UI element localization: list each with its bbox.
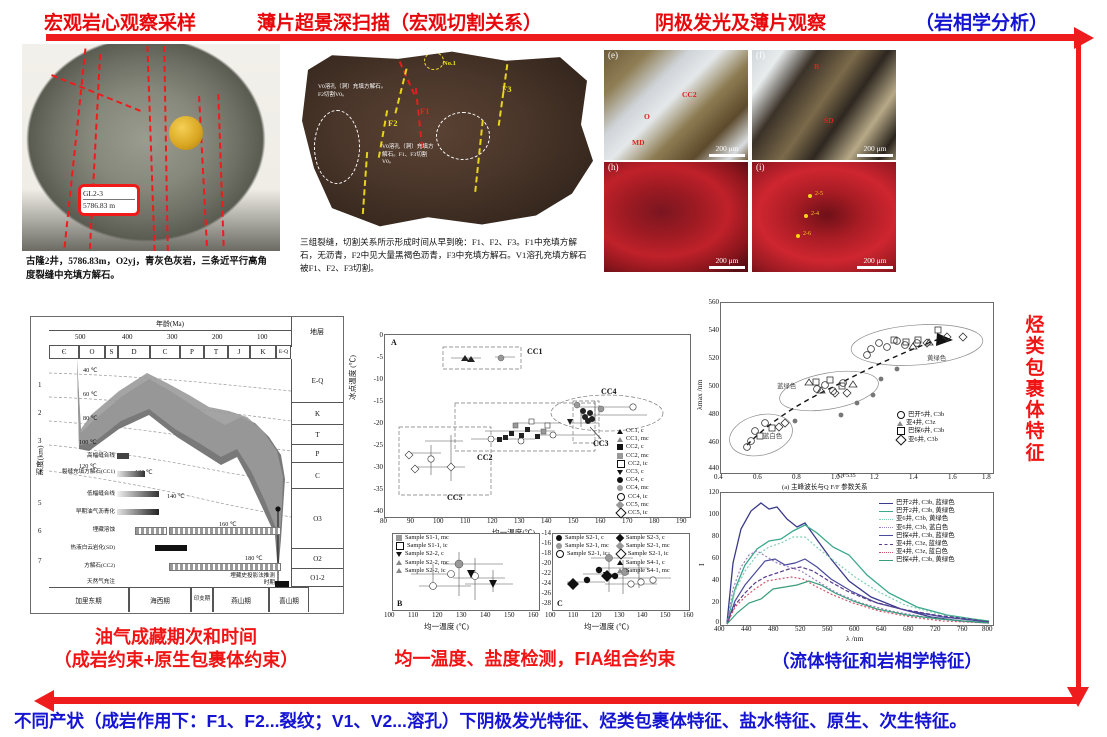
core-photo-caption: 古隆2井，5786.83m，O2yj，青灰色灰岩，三条近平行高角度裂缝中充填方解…: [26, 256, 276, 283]
x-tick: 150: [568, 517, 579, 525]
group-label-cc3: CC3: [593, 439, 609, 448]
event-label: 早期油气沥青化: [49, 509, 115, 516]
strata-cell: E-Q: [276, 345, 291, 359]
thin-section-caption: 三组裂缝，切割关系所示形成时间从早到晚：F1、F2、F3。F1中充填方解石，无沥…: [300, 236, 590, 275]
fluorescence-subtitle: (a) 主峰波长与Q F/F 参数关系: [782, 481, 868, 491]
burial-caption-line2: （成岩约束+原生包裹体约束）: [26, 649, 326, 672]
y-tick: 40: [712, 576, 719, 584]
y-tick: 100: [709, 510, 720, 518]
event-bar: [117, 471, 145, 477]
age-tick-400: 400: [122, 333, 133, 341]
y-tick: -16: [542, 539, 551, 547]
y-tick: -28: [542, 599, 551, 607]
x-tick: 130: [514, 517, 525, 525]
y-tick: 460: [709, 438, 720, 446]
top-arrow-bar: [46, 34, 1076, 41]
legend-label: CC5, mc: [626, 501, 649, 509]
thin-section-note-center: V0溶孔（洞）充填方解石。F1、F3切割V0。: [382, 144, 438, 167]
fia-spot-label-2-5: 2-5: [815, 191, 823, 197]
strata-right-cell: O2: [292, 549, 343, 569]
panel-a-y-ticks: 0 -5 -10 -15 -20 -25 -30 -35 -40: [364, 334, 384, 516]
scale-bar-i-text: 200 μm: [864, 256, 887, 265]
scale-bar-e: 200 μm: [709, 144, 745, 157]
x-tick: 180: [649, 517, 660, 525]
y-tick: -15: [374, 397, 383, 405]
x-tick: 90: [407, 517, 414, 525]
side-caption-char: 烃: [1022, 315, 1048, 336]
legend-label: Sample S1-1, ic: [407, 542, 448, 550]
bottom-summary-text: 不同产状（成岩作用下：F1、F2...裂纹；V1、V2...溶孔）下阴极发光特征…: [14, 708, 967, 733]
mineral-label-b: B: [814, 62, 819, 71]
symbol-triangle-open-icon: [897, 421, 903, 426]
strata-cell: Є: [49, 345, 79, 359]
x-tick: 120: [432, 611, 443, 619]
panel-label-h: (h): [606, 162, 621, 172]
legend-item: Sample S2-1, ic: [556, 550, 609, 558]
strata-cell: P: [180, 345, 204, 359]
micrograph-panel-i: (i) 2-5 2-4 2-6 200 μm: [752, 162, 896, 272]
depth-tick-7: 7: [38, 557, 42, 565]
legend-label: 巴探4井, C3b, 黄绿色: [896, 556, 955, 564]
x-tick: 640: [876, 625, 887, 633]
x-tick: 170: [622, 517, 633, 525]
x-tick: 160: [683, 611, 694, 619]
legend-item: Sample S2-3, c: [617, 534, 670, 542]
y-tick: -26: [542, 589, 551, 597]
y-tick: -22: [542, 569, 551, 577]
panel-label-i: (i): [754, 162, 767, 172]
x-tick: 140: [480, 611, 491, 619]
x-tick: 560: [822, 625, 833, 633]
legend-item: CC2, c: [617, 443, 649, 451]
x-tick: 0.6: [753, 473, 762, 481]
x-tick: 480: [768, 625, 779, 633]
micrograph-panel-h: (h) 200 μm: [604, 162, 748, 272]
symbol-square-open-icon: [396, 542, 404, 550]
burial-history-chart: 年龄(Ma) 地层 500 400 300 200 100 Є O S D C …: [30, 316, 344, 614]
strata-right-cell: O1-2: [292, 569, 343, 587]
strata-cell: S: [105, 345, 118, 359]
legend-item: 巴探4井, C3b, 黄绿色: [879, 556, 955, 564]
strata-right-cell: C: [292, 463, 343, 489]
side-caption-hydrocarbon-inclusions: 烃 类 包 裹 体 特 征: [1022, 315, 1048, 464]
age-tick-500: 500: [75, 333, 86, 341]
core-tag-id: GL2-3: [83, 188, 135, 200]
panel-c-y-ticks: -14 -16 -18 -20 -22 -24 -26 -28: [534, 533, 552, 609]
legend-item: Sample S4-1, mc: [617, 567, 670, 575]
event-projection-note: 埋藏史投影法推测时期: [225, 573, 275, 586]
x-tick: 100: [384, 611, 395, 619]
x-tick: 140: [637, 611, 648, 619]
y-tick: -18: [542, 549, 551, 557]
line-swatch: [879, 503, 893, 504]
line-swatch: [879, 535, 893, 536]
y-tick: 500: [709, 382, 720, 390]
legend-label: Sample S2-1, c: [565, 534, 604, 542]
scale-bar-f-text: 200 μm: [864, 144, 887, 153]
x-tick: 1.6: [948, 473, 957, 481]
panel-a-ylabel: 冰点温度 (℃): [347, 355, 358, 400]
header-item-thin-section-scan: 薄片超景深扫描（宏观切割关系）: [257, 8, 542, 35]
legend-label: Sample S2-1, mc: [626, 542, 670, 550]
y-tick: 480: [709, 410, 720, 418]
scale-bar-f: 200 μm: [857, 144, 893, 157]
symbol-square-gray-icon: [617, 453, 623, 459]
legend-label: CC4, ic: [628, 493, 648, 501]
header-item-petrography: （岩相学分析）: [915, 8, 1048, 35]
age-tick-200: 200: [212, 333, 223, 341]
panel-a-legend: CC1, c CC1, mc CC2, c CC2, mc CC2, ic CC…: [617, 427, 649, 517]
micrograph-panel-f: (f) B SD 200 μm: [752, 50, 896, 160]
legend-label: CC4, c: [626, 476, 644, 484]
legend-label: 巴开2井, C3b, 蓝绿色: [896, 499, 955, 507]
spectra-ylabel: I: [697, 563, 706, 566]
zone-label-blue-green: 蓝绿色: [777, 381, 796, 390]
legend-item: Sample S2-2, c: [396, 550, 449, 558]
dissolution-pore-outline-left: [314, 110, 360, 184]
legend-label: 巴探4井, C3b, 蓝绿色: [896, 532, 955, 540]
spectra-legend: 巴开2井, C3b, 蓝绿色 巴开2井, C3b, 黄绿色 亚6井, C3b, …: [879, 499, 955, 565]
y-tick: -30: [374, 463, 383, 471]
y-tick: 60: [712, 554, 719, 562]
symbol-triangle-icon: [617, 560, 623, 565]
symbol-circle-icon: [617, 477, 623, 483]
burial-ylabel: 深度(km): [34, 446, 45, 476]
fracture-f2: [394, 68, 407, 113]
y-tick: -24: [542, 579, 551, 587]
legend-label: CC3, c: [626, 468, 644, 476]
legend-label: CC1, c: [626, 427, 644, 435]
zone-label-yellow-green: 黄绿色: [927, 353, 946, 362]
fracture-label-f3: F3: [502, 84, 511, 94]
y-tick: 120: [709, 488, 720, 496]
scale-bar-i: 200 μm: [857, 256, 893, 269]
header-item-cl-observation: 阴极发光及薄片观察: [655, 8, 826, 35]
fia-spot-label-2-4: 2-4: [811, 211, 819, 217]
spectra-chart: 巴开2井, C3b, 蓝绿色 巴开2井, C3b, 黄绿色 亚6井, C3b, …: [720, 492, 994, 626]
side-caption-char: 类: [1022, 336, 1048, 357]
spectra-y-ticks: 120 100 80 60 40 20 0: [700, 492, 720, 624]
x-tick: 760: [957, 625, 968, 633]
mineral-label-md: MD: [632, 138, 645, 147]
x-tick: 110: [408, 611, 418, 619]
event-bar: [117, 509, 159, 515]
x-tick: 800: [982, 625, 993, 633]
event-label: 高幅缝合线: [51, 453, 115, 460]
y-tick: 0: [380, 331, 384, 339]
y-tick: -40: [374, 507, 383, 515]
side-caption-char: 体: [1022, 400, 1048, 421]
x-tick: 400: [714, 625, 725, 633]
legend-label: 亚6井, C3b, 蓝白色: [896, 524, 948, 532]
tectonic-stage: 海西期: [129, 587, 191, 612]
symbol-circle-open-icon: [897, 411, 905, 419]
tectonic-stage: 加里东期: [49, 587, 129, 612]
legend-item: Sample S2-2, mc: [396, 559, 449, 567]
legend-label: CC2, c: [626, 443, 644, 451]
event-label: 方解石(CC2): [59, 563, 115, 570]
y-tick: 20: [712, 598, 719, 606]
legend-item: Sample S2-1, mc: [617, 542, 670, 550]
legend-item: CC4, mc: [617, 484, 649, 492]
fluorescence-ylabel: λmax /nm: [695, 380, 704, 410]
symbol-triangle-down-icon: [617, 470, 623, 475]
legend-label: Sample S4-1, mc: [626, 567, 670, 575]
y-tick: 440: [709, 464, 720, 472]
isotherm-180: 180 ℃: [245, 555, 263, 562]
fluorescence-xlabel: QF535: [838, 472, 856, 479]
symbol-triangle-gray-icon: [617, 437, 623, 442]
y-tick: 560: [709, 298, 720, 306]
event-bar: [117, 491, 159, 497]
y-tick: -20: [542, 559, 551, 567]
x-tick: 140: [541, 517, 552, 525]
group-label-cc2: CC2: [477, 453, 493, 462]
legend-item: CC1, c: [617, 427, 649, 435]
fluorescence-legend: 巴开5井, C3b 亚4井, C3z 巴探6井, C3b 亚6井, C3b: [897, 411, 944, 444]
event-label: 热液白云岩化(SD): [49, 545, 115, 552]
legend-item: CC3, c: [617, 468, 649, 476]
event-bar: [169, 563, 281, 571]
depth-tick-1: 1: [38, 381, 42, 389]
legend-item: 亚6井, C3b, 蓝白色: [879, 524, 955, 532]
legend-item: 巴开5井, C3b: [897, 411, 944, 419]
line-swatch: [879, 560, 893, 561]
legend-label: Sample S2-3, c: [626, 534, 665, 542]
line-swatch: [879, 552, 893, 553]
y-tick: -35: [374, 485, 383, 493]
legend-item: 巴开2井, C3b, 蓝绿色: [879, 499, 955, 507]
y-tick: -5: [377, 353, 383, 361]
fracture-label-f1: F1: [420, 106, 429, 116]
mineral-label-cc2: CC2: [682, 90, 697, 99]
burial-plot-area: 40 ℃ 60 ℃ 80 ℃ 100 ℃ 120 ℃ 120 ℃ 140 ℃ 1…: [49, 359, 292, 588]
event-label: 埋藏溶蚀: [55, 527, 115, 534]
thin-section-scan-photo: V0溶孔（洞）充填方解石。F2切割V0。 V0溶孔（洞）充填方解石。F1、F3切…: [296, 48, 596, 230]
fracture-f1-b: [415, 88, 423, 148]
isotherm-100: 100 ℃: [79, 439, 97, 446]
symbol-circle-open-icon: [617, 493, 625, 501]
x-tick: 150: [504, 611, 515, 619]
y-tick: 80: [712, 532, 719, 540]
x-tick: 80: [380, 517, 387, 525]
x-tick: 100: [545, 611, 556, 619]
x-tick: 160: [528, 611, 539, 619]
burial-strata-header: 地层: [291, 317, 342, 347]
isotherm-40: 40 ℃: [83, 367, 98, 374]
panel-b-xlabel: 均一温度 (℃): [424, 621, 469, 632]
side-caption-char: 裹: [1022, 379, 1048, 400]
x-tick: 1.2: [870, 473, 879, 481]
legend-label: Sample S2-2, ic: [405, 567, 446, 575]
legend-label: CC5, ic: [628, 509, 648, 517]
event-label: 低幅缝合线: [51, 491, 115, 498]
fluid-petrography-caption: （流体特征和岩相学特征）: [772, 648, 982, 673]
symbol-triangle-gray-icon: [617, 568, 623, 573]
group-label-cc1: CC1: [527, 347, 543, 356]
x-tick: 110: [568, 611, 578, 619]
legend-item: Sample S4-1, c: [617, 559, 670, 567]
legend-label: 巴探6井, C3b: [908, 427, 944, 435]
symbol-diamond-open-icon: [895, 434, 906, 445]
legend-label: Sample S2-1, ic: [567, 550, 608, 558]
legend-label: 亚6井, C3b: [908, 436, 938, 444]
strata-cell: C: [150, 345, 180, 359]
zone-label-blue-white: 蓝白色: [763, 431, 782, 440]
age-tick-300: 300: [167, 333, 178, 341]
symbol-triangle-gray-icon: [396, 560, 402, 565]
event-bar: [117, 453, 129, 459]
legend-item: Sample S2-1, ic: [617, 550, 670, 558]
age-tick-100: 100: [257, 333, 268, 341]
burial-depth-axis: 1 2 3 4 5 6 7 深度(km): [31, 359, 49, 587]
y-tick: -25: [374, 441, 383, 449]
isotherm-140: 140 ℃: [167, 493, 185, 500]
side-caption-char: 特: [1022, 421, 1048, 442]
x-tick: 110: [460, 517, 470, 525]
fia-spot-2-5: [808, 194, 812, 198]
depth-tick-5: 5: [38, 499, 42, 507]
legend-item: CC2, mc: [617, 452, 649, 460]
fia-spot-2-6: [796, 234, 800, 238]
symbol-circle-gray-icon: [556, 543, 562, 549]
legend-item: CC4, c: [617, 476, 649, 484]
symbol-circle-gray-icon: [617, 485, 623, 491]
fia-spot-label-2-6: 2-6: [803, 231, 811, 237]
panel-c-legend: Sample S2-1, c Sample S2-1, mc Sample S2…: [556, 534, 670, 575]
symbol-circle-open-icon: [556, 550, 564, 558]
fracture-label-f2: F2: [388, 118, 397, 128]
scale-bar-h: 200 μm: [709, 256, 745, 269]
x-tick: 130: [456, 611, 467, 619]
panel-label-f: (f): [754, 50, 767, 60]
right-vertical-rule: [1076, 34, 1081, 700]
legend-item: Sample S1-1, ic: [396, 542, 449, 550]
legend-item: 巴探4井, C3b, 蓝绿色: [879, 532, 955, 540]
x-tick: 520: [795, 625, 806, 633]
legend-item: CC1, mc: [617, 435, 649, 443]
x-tick: 120: [591, 611, 602, 619]
mineral-label-sd: SD: [824, 116, 834, 125]
legend-item: CC4, ic: [617, 493, 649, 501]
group-label-cc4: CC4: [601, 387, 617, 396]
legend-item: 亚6井, C3b: [897, 436, 944, 444]
burial-right-strata-column: E-Q K T P C O3 O2 O1-2: [291, 359, 343, 587]
strata-cell: O: [79, 345, 105, 359]
event-bar: [169, 527, 281, 535]
sample-spot-no1: [424, 52, 444, 70]
core-tag-depth: 5786.83 m: [83, 200, 135, 211]
thin-section-note-left: V0溶孔（洞）充填方解石。F2切割V0。: [318, 84, 390, 99]
depth-tick-2: 2: [38, 409, 42, 417]
legend-label: Sample S2-2, mc: [405, 559, 449, 567]
strata-right-cell: K: [292, 403, 343, 425]
legend-label: Sample S2-1, mc: [565, 542, 609, 550]
symbol-triangle-down-icon: [396, 552, 402, 557]
panel-label-e: (e): [606, 50, 620, 60]
symbol-triangle-open-icon: [396, 568, 402, 573]
x-tick: 160: [595, 517, 606, 525]
legend-label: CC4, mc: [626, 484, 649, 492]
strata-right-cell: P: [292, 445, 343, 463]
strata-cell: J: [228, 345, 250, 359]
symbol-circle-icon: [556, 535, 562, 541]
legend-item: 亚6井, C3b, 黄绿色: [879, 515, 955, 523]
burial-age-axis-title: 年龄(Ma): [49, 317, 291, 331]
y-tick: -14: [542, 529, 551, 537]
x-tick: 1.8: [982, 473, 991, 481]
strata-right-cell: E-Q: [292, 359, 343, 403]
tectonic-stage: 印支期: [191, 587, 213, 612]
isotherm-80: 80 ℃: [83, 415, 98, 422]
side-caption-char: 征: [1022, 443, 1048, 464]
strata-cell: K: [250, 345, 276, 359]
panel-c-xlabel: 均一温度 (℃): [584, 621, 629, 632]
micrograph-panel-e: (e) CC2 O MD 200 μm: [604, 50, 748, 160]
legend-item: Sample S2-1, c: [556, 534, 609, 542]
x-tick: 440: [741, 625, 752, 633]
fracture-f2-c: [362, 152, 368, 214]
x-tick: 190: [676, 517, 687, 525]
legend-item: Sample S2-1, mc: [556, 542, 609, 550]
x-tick: 720: [930, 625, 941, 633]
line-swatch: [879, 527, 893, 528]
tectonic-stage: 喜山期: [269, 587, 309, 612]
fia-caption: 均一温度、盐度检测，FIA组合约束: [370, 648, 700, 671]
strata-cell: T: [204, 345, 228, 359]
x-tick: 130: [614, 611, 625, 619]
y-tick: -10: [374, 375, 383, 383]
depth-tick-3: 3: [38, 437, 42, 445]
x-tick: 120: [487, 517, 498, 525]
event-label: 天然气充注: [59, 579, 115, 586]
fluorescence-lambda-q-chart: 蓝白色 蓝绿色 黄绿色 巴开5井, C3b 亚4井, C3z 巴探6井, C3b…: [720, 302, 994, 474]
legend-label: Sample S2-1, ic: [628, 550, 669, 558]
event-label: 裂缝充填方解石(CC1): [49, 469, 115, 476]
strata-right-cell: O3: [292, 489, 343, 549]
tectonic-stage: 燕山期: [213, 587, 269, 612]
symbol-square-icon: [617, 444, 623, 450]
panel-a-chart: A: [384, 334, 691, 518]
side-caption-char: 包: [1022, 358, 1048, 379]
header-item-core-observation: 宏观岩心观察采样: [44, 8, 196, 35]
y-tick: 520: [709, 354, 720, 362]
strata-cell: D: [118, 345, 150, 359]
burial-caption-line1: 油气成藏期次和时间: [26, 626, 326, 649]
legend-label: CC1, mc: [626, 435, 649, 443]
core-sample-photo: GL2-3 5786.83 m: [22, 44, 280, 251]
isotherm-60: 60 ℃: [83, 391, 98, 398]
tectonic-stage-row: 加里东期 海西期 印支期 燕山期 喜山期: [49, 587, 342, 612]
legend-item: 巴探6井, C3b: [897, 427, 944, 435]
burial-age-ticks: 500 400 300 200 100: [49, 331, 291, 346]
symbol-triangle-icon: [617, 429, 623, 434]
scale-bar-h-text: 200 μm: [716, 256, 739, 265]
burial-chart-caption: 油气成藏期次和时间 （成岩约束+原生包裹体约束）: [26, 626, 326, 671]
line-swatch: [879, 544, 893, 545]
x-tick: 0.8: [792, 473, 801, 481]
symbol-square-open-icon: [617, 460, 625, 468]
x-tick: 150: [660, 611, 671, 619]
x-tick: 100: [433, 517, 444, 525]
legend-label: Sample S1-1, mc: [405, 534, 449, 542]
legend-item: CC5, ic: [617, 509, 649, 517]
legend-label: CC2, ic: [628, 460, 648, 468]
legend-label: 巴开5井, C3b: [908, 411, 944, 419]
legend-label: 亚6井, C3b, 黄绿色: [896, 515, 948, 523]
coin-scale-reference: [169, 116, 203, 150]
event-bar: [155, 545, 187, 551]
